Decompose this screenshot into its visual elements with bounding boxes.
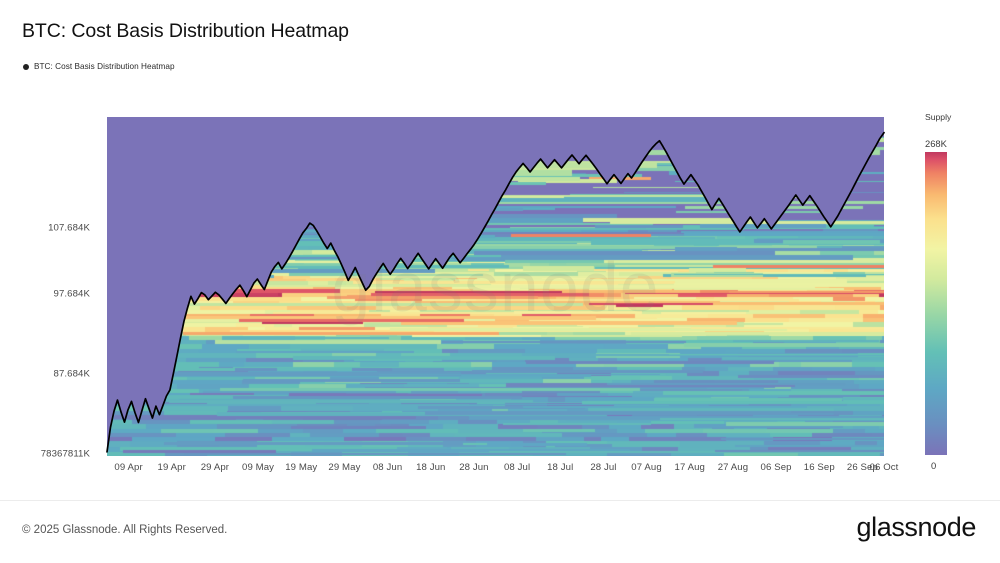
legend-marker-icon xyxy=(23,64,29,70)
x-axis-tick-label: 09 Apr xyxy=(114,462,142,473)
y-axis-tick-label: 107.684K xyxy=(48,222,90,233)
footer-copyright: © 2025 Glassnode. All Rights Reserved. xyxy=(22,524,227,536)
y-axis-tick-label: 87.684K xyxy=(54,368,90,379)
colorbar-title: Supply xyxy=(925,112,951,122)
x-axis-tick-label: 08 Jun xyxy=(373,462,402,473)
x-axis-tick-label: 29 Apr xyxy=(201,462,229,473)
colorbar[interactable]: Supply 268K 0 xyxy=(900,112,980,472)
page-title: BTC: Cost Basis Distribution Heatmap xyxy=(22,20,349,43)
x-axis-tick-label: 08 Jul xyxy=(504,462,530,473)
x-axis-tick-label: 09 May xyxy=(242,462,274,473)
x-axis-tick-label: 28 Jul xyxy=(590,462,616,473)
footer-divider xyxy=(0,500,1000,501)
x-axis-tick-label: 18 Jun xyxy=(416,462,445,473)
x-axis-tick-label: 07 Aug xyxy=(631,462,661,473)
x-axis-tick-label: 28 Jun xyxy=(459,462,488,473)
x-axis-tick-label: 19 Apr xyxy=(158,462,186,473)
x-axis-tick-label: 18 Jul xyxy=(547,462,573,473)
chart-legend[interactable]: BTC: Cost Basis Distribution Heatmap xyxy=(23,62,175,71)
heatmap-plot-area[interactable]: glassnode xyxy=(107,117,884,456)
x-axis-tick-label: 27 Aug xyxy=(718,462,748,473)
y-axis: 107.684K97.684K87.684K78367811K xyxy=(0,117,98,456)
x-axis-tick-label: 06 Oct xyxy=(870,462,899,473)
heatmap-canvas[interactable] xyxy=(107,117,884,456)
colorbar-gradient xyxy=(925,152,947,455)
x-axis-tick-label: 17 Aug xyxy=(675,462,705,473)
colorbar-min-label: 0 xyxy=(931,460,936,471)
legend-series-label: BTC: Cost Basis Distribution Heatmap xyxy=(34,62,175,71)
x-axis-tick-label: 06 Sep xyxy=(761,462,792,473)
x-axis-tick-label: 19 May xyxy=(285,462,317,473)
x-axis: 09 Apr19 Apr29 Apr09 May19 May29 May08 J… xyxy=(107,462,884,482)
x-axis-tick-label: 16 Sep xyxy=(804,462,835,473)
y-axis-tick-label: 97.684K xyxy=(54,288,90,299)
x-axis-tick-label: 29 May xyxy=(328,462,360,473)
chart-page: BTC: Cost Basis Distribution Heatmap BTC… xyxy=(0,0,1000,563)
y-axis-tick-label: 78367811K xyxy=(41,448,90,459)
brand-logo: glassnode xyxy=(857,512,977,543)
colorbar-max-label: 268K xyxy=(925,138,947,149)
